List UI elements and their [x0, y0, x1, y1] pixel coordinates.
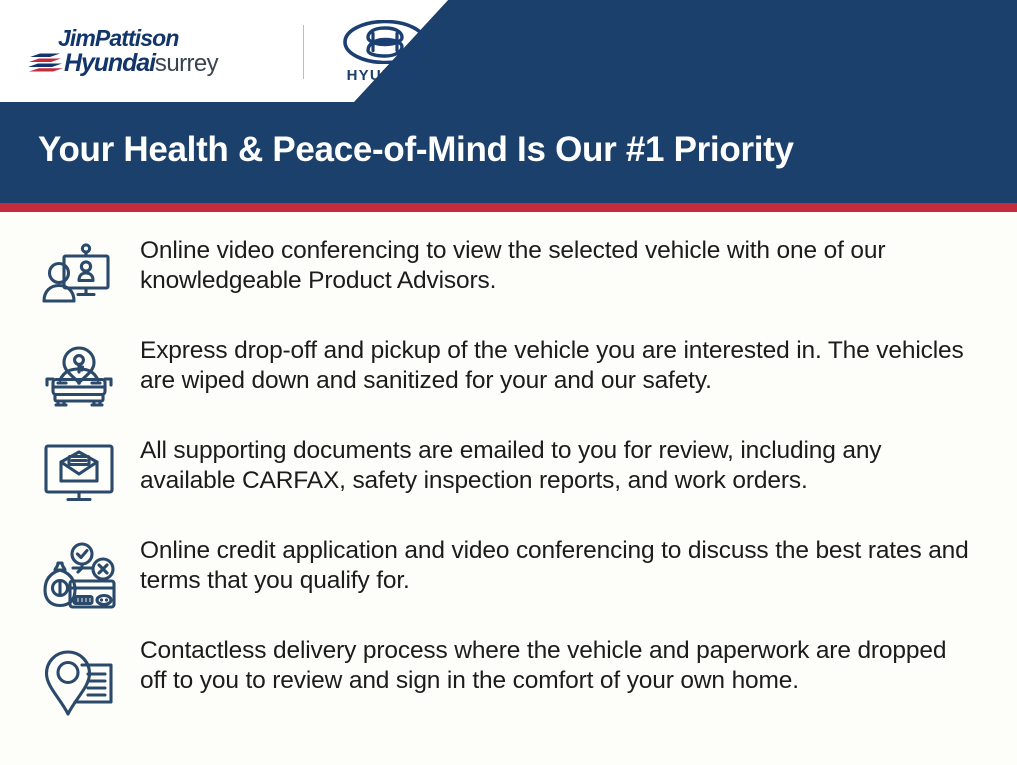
hyundai-h-ellipse-icon: [343, 20, 427, 64]
red-divider: [0, 203, 1017, 212]
list-item: Online video conferencing to view the se…: [0, 230, 1017, 318]
list-item-icon: [38, 230, 120, 318]
monitor-email-icon: [41, 442, 117, 506]
list-item-text: Express drop-off and pickup of the vehic…: [120, 330, 977, 396]
logo-row: JimPattison Hyundaisurrey HYUNDAI: [28, 22, 440, 82]
list-item-icon: [38, 530, 120, 622]
list-item-icon: [38, 430, 120, 518]
location-pin-document-icon: [42, 648, 116, 718]
list-item: Contactless delivery process where the v…: [0, 630, 1017, 748]
list-item-text: Contactless delivery process where the v…: [120, 630, 977, 696]
list-item-icon: [38, 330, 120, 422]
dealer-logo[interactable]: JimPattison Hyundaisurrey: [28, 24, 273, 80]
list-item-icon: [38, 630, 120, 748]
list-item-text: Online video conferencing to view the se…: [120, 230, 977, 296]
dealer-brand-word: Hyundai: [64, 49, 155, 77]
dealer-location-word: surrey: [155, 50, 218, 77]
header-banner: JimPattison Hyundaisurrey HYUNDAI: [0, 0, 1017, 203]
manufacturer-wordmark: HYUNDAI: [347, 67, 424, 84]
list-item: Online credit application and video conf…: [0, 530, 1017, 622]
list-item-text: All supporting documents are emailed to …: [120, 430, 977, 496]
money-bag-credit-card-icon: [40, 540, 118, 612]
list-item: All supporting documents are emailed to …: [0, 430, 1017, 518]
list-item: Express drop-off and pickup of the vehic…: [0, 330, 1017, 422]
car-key-pin-icon: [42, 341, 116, 411]
video-conference-icon: [42, 243, 116, 305]
dealer-name-line2: Hyundaisurrey: [64, 49, 218, 78]
manufacturer-logo[interactable]: HYUNDAI: [330, 20, 440, 84]
dealer-name-line1: JimPattison: [58, 25, 178, 52]
promo-page: JimPattison Hyundaisurrey HYUNDAI: [0, 0, 1017, 765]
page-title: Your Health & Peace-of-Mind Is Our #1 Pr…: [38, 130, 794, 170]
list-item-text: Online credit application and video conf…: [120, 530, 977, 596]
logo-divider: [303, 25, 304, 79]
dealer-logo-text: JimPattison Hyundaisurrey: [28, 24, 273, 80]
benefits-list: Online video conferencing to view the se…: [0, 212, 1017, 765]
